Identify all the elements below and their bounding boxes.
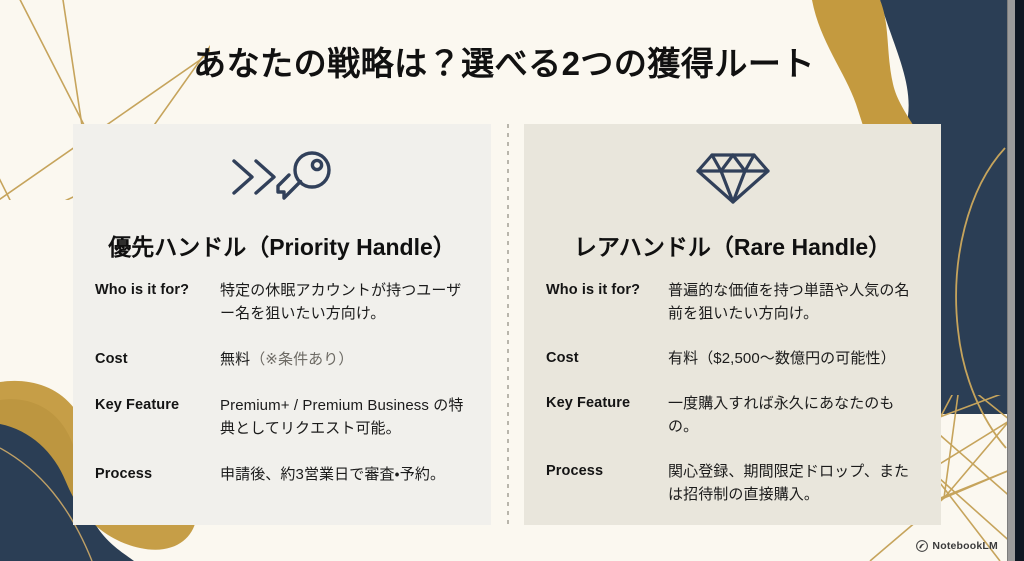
- row-value: 一度購入すれば永久にあなたのもの。: [668, 392, 923, 438]
- row-label: Key Feature: [95, 394, 220, 416]
- row-label: Who is it for?: [95, 279, 220, 301]
- card-rows-rare: Who is it for? 普遍的な価値を持つ単語や人気の名前を狙いたい方向け…: [546, 279, 923, 506]
- row-label: Process: [546, 460, 668, 482]
- row-cost: Cost 有料（$2,500〜数億円の可能性）: [546, 347, 923, 370]
- row-process: Process 関心登録、期間限定ドロップ、または招待制の直接購入。: [546, 460, 923, 506]
- row-value: 普遍的な価値を持つ単語や人気の名前を狙いたい方向け。: [668, 279, 923, 325]
- vertical-scrollbar[interactable]: [1007, 0, 1015, 561]
- notebooklm-watermark: NotebookLM: [916, 540, 998, 552]
- row-value-note: （※条件あり）: [250, 351, 353, 368]
- card-rare-handle: レアハンドル（Rare Handle） Who is it for? 普遍的な価…: [524, 124, 941, 525]
- card-rows-priority: Who is it for? 特定の休眠アカウントが持つユーザー名を狙いたい方向…: [95, 279, 473, 486]
- page-title: あなたの戦略は？選べる2つの獲得ルート: [0, 44, 1008, 84]
- notebooklm-label: NotebookLM: [932, 540, 998, 552]
- row-value: 申請後、約3営業日で審査・予約。: [220, 463, 473, 486]
- row-label: Cost: [95, 348, 220, 370]
- row-value: 無料（※条件あり）: [220, 348, 473, 371]
- row-key-feature: Key Feature Premium+ / Premium Business …: [95, 394, 473, 440]
- key-fast-forward-icon: [73, 146, 491, 208]
- center-divider: [507, 124, 509, 525]
- row-label: Process: [95, 463, 220, 485]
- notebooklm-logo-icon: [916, 540, 928, 552]
- row-value: 関心登録、期間限定ドロップ、または招待制の直接購入。: [668, 460, 923, 506]
- row-key-feature: Key Feature 一度購入すれば永久にあなたのもの。: [546, 392, 923, 438]
- row-value-main: 無料: [220, 351, 250, 368]
- slide-canvas: あなたの戦略は？選べる2つの獲得ルート 優先ハンドル（Priority Hand…: [0, 0, 1024, 561]
- row-who-is-it-for: Who is it for? 特定の休眠アカウントが持つユーザー名を狙いたい方向…: [95, 279, 473, 325]
- card-heading-rare: レアハンドル（Rare Handle）: [524, 228, 941, 262]
- row-value: Premium+ / Premium Business の特典としてリクエスト可…: [220, 394, 473, 440]
- row-value: 有料（$2,500〜数億円の可能性）: [668, 347, 923, 370]
- row-label: Key Feature: [546, 392, 668, 414]
- row-label: Cost: [546, 347, 668, 369]
- diamond-icon: [524, 146, 941, 208]
- row-value: 特定の休眠アカウントが持つユーザー名を狙いたい方向け。: [220, 279, 473, 325]
- row-label: Who is it for?: [546, 279, 668, 301]
- row-who-is-it-for: Who is it for? 普遍的な価値を持つ単語や人気の名前を狙いたい方向け…: [546, 279, 923, 325]
- row-cost: Cost 無料（※条件あり）: [95, 348, 473, 371]
- card-priority-handle: 優先ハンドル（Priority Handle） Who is it for? 特…: [73, 124, 491, 525]
- row-process: Process 申請後、約3営業日で審査・予約。: [95, 463, 473, 486]
- gold-arc-top-right: [956, 148, 1006, 448]
- card-heading-priority: 優先ハンドル（Priority Handle）: [73, 228, 491, 262]
